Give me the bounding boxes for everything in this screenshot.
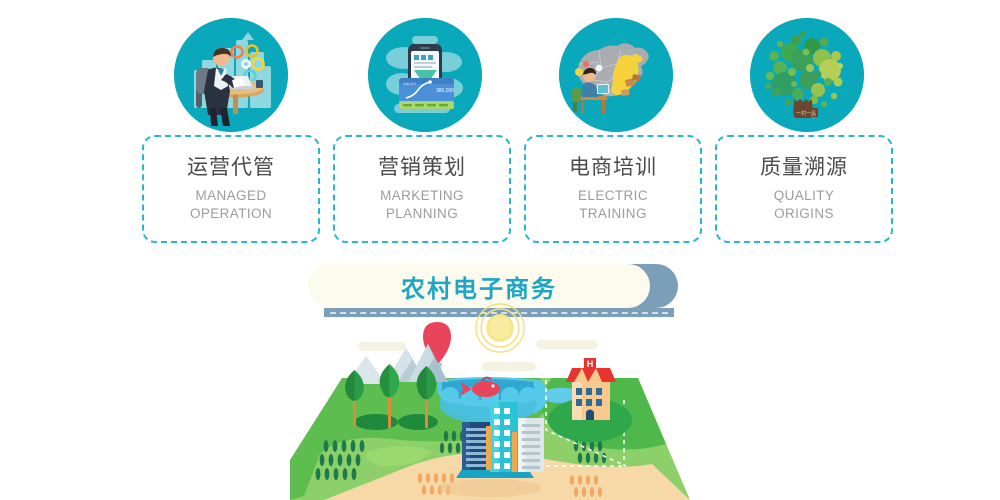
service-card-1[interactable]: 营销策划 MARKETING PLANNING [333, 135, 511, 243]
service-card-title-en: ELECTRIC TRAINING [578, 187, 648, 223]
service-card-2[interactable]: 电商培训 ELECTRIC TRAINING [524, 135, 702, 243]
banner-title: 农村电子商务 [401, 269, 557, 304]
service-card-en-line1: QUALITY [774, 187, 835, 205]
service-card-title-cn: 营销策划 [378, 155, 466, 180]
service-card-title-en: MANAGED OPERATION [190, 187, 272, 223]
service-card-title-en: MARKETING PLANNING [380, 187, 464, 223]
mobile-marketing-chart-icon: 380,000 SALES [368, 18, 482, 132]
businessman-laptop-icon [174, 18, 288, 132]
bubble-tree-traceability-icon: 一村一品 [750, 18, 864, 132]
service-card-0[interactable]: 运营代管 MANAGED OPERATION [142, 135, 320, 243]
service-card-en-line1: MARKETING [380, 187, 464, 205]
service-card-title-en: QUALITY ORIGINS [774, 187, 835, 223]
service-icon-0[interactable] [174, 18, 288, 132]
service-card-en-line1: MANAGED [190, 187, 272, 205]
service-card-en-line2: ORIGINS [774, 205, 835, 223]
sun-icon [476, 304, 524, 352]
service-icon-2[interactable] [559, 18, 673, 132]
service-card-title-cn: 电商培训 [569, 155, 657, 180]
service-card-title-cn: 运营代管 [187, 155, 275, 180]
service-card-3[interactable]: 质量溯源 QUALITY ORIGINS [715, 135, 893, 243]
service-card-en-line2: PLANNING [380, 205, 464, 223]
service-card-en-line2: OPERATION [190, 205, 272, 223]
svg-text:SALES: SALES [403, 81, 416, 86]
china-map-training-icon [559, 18, 673, 132]
cloud-icon [358, 340, 598, 371]
svg-text:一村一品: 一村一品 [796, 110, 816, 117]
service-icons-row: 380,000 SALES [0, 18, 1000, 138]
hospital-sign-letter: H [587, 359, 594, 369]
service-card-en-line2: TRAINING [578, 205, 648, 223]
service-card-title-cn: 质量溯源 [760, 155, 848, 180]
service-icon-1[interactable]: 380,000 SALES [368, 18, 482, 132]
svg-text:380,000: 380,000 [436, 88, 454, 94]
landscape-illustration: H [290, 300, 690, 500]
infographic-page: { "palette": { "circle_teal": "#0aa8bb",… [0, 0, 1000, 500]
service-icon-3[interactable]: 一村一品 [750, 18, 864, 132]
service-card-en-line1: ELECTRIC [578, 187, 648, 205]
